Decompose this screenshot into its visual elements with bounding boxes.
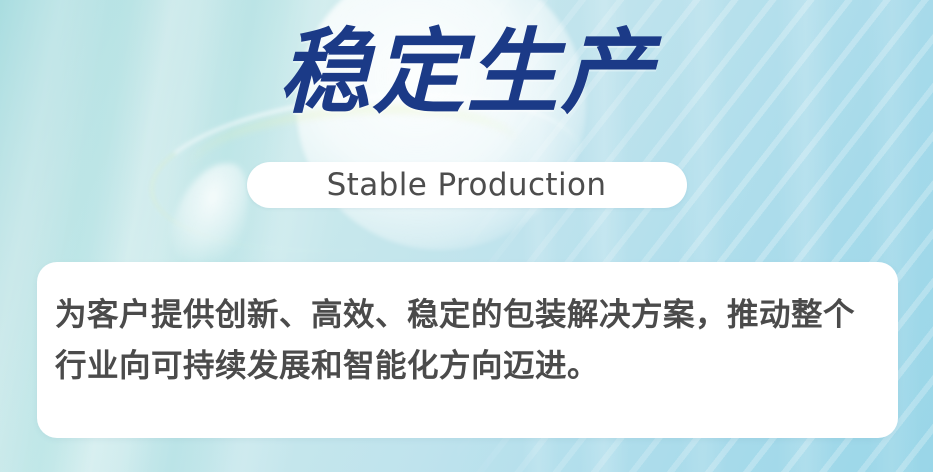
subtitle-pill-container: Stable Production xyxy=(0,162,933,208)
page-title: 稳定生产 xyxy=(0,20,933,126)
subtitle-text: Stable Production xyxy=(327,167,607,203)
subtitle-pill: Stable Production xyxy=(247,162,687,208)
stable-production-banner: 稳定生产 Stable Production 为客户提供创新、高效、稳定的包装解… xyxy=(0,0,933,472)
description-text: 为客户提供创新、高效、稳定的包装解决方案，推动整个行业向可持续发展和智能化方向迈… xyxy=(55,290,868,392)
description-card: 为客户提供创新、高效、稳定的包装解决方案，推动整个行业向可持续发展和智能化方向迈… xyxy=(37,262,898,438)
